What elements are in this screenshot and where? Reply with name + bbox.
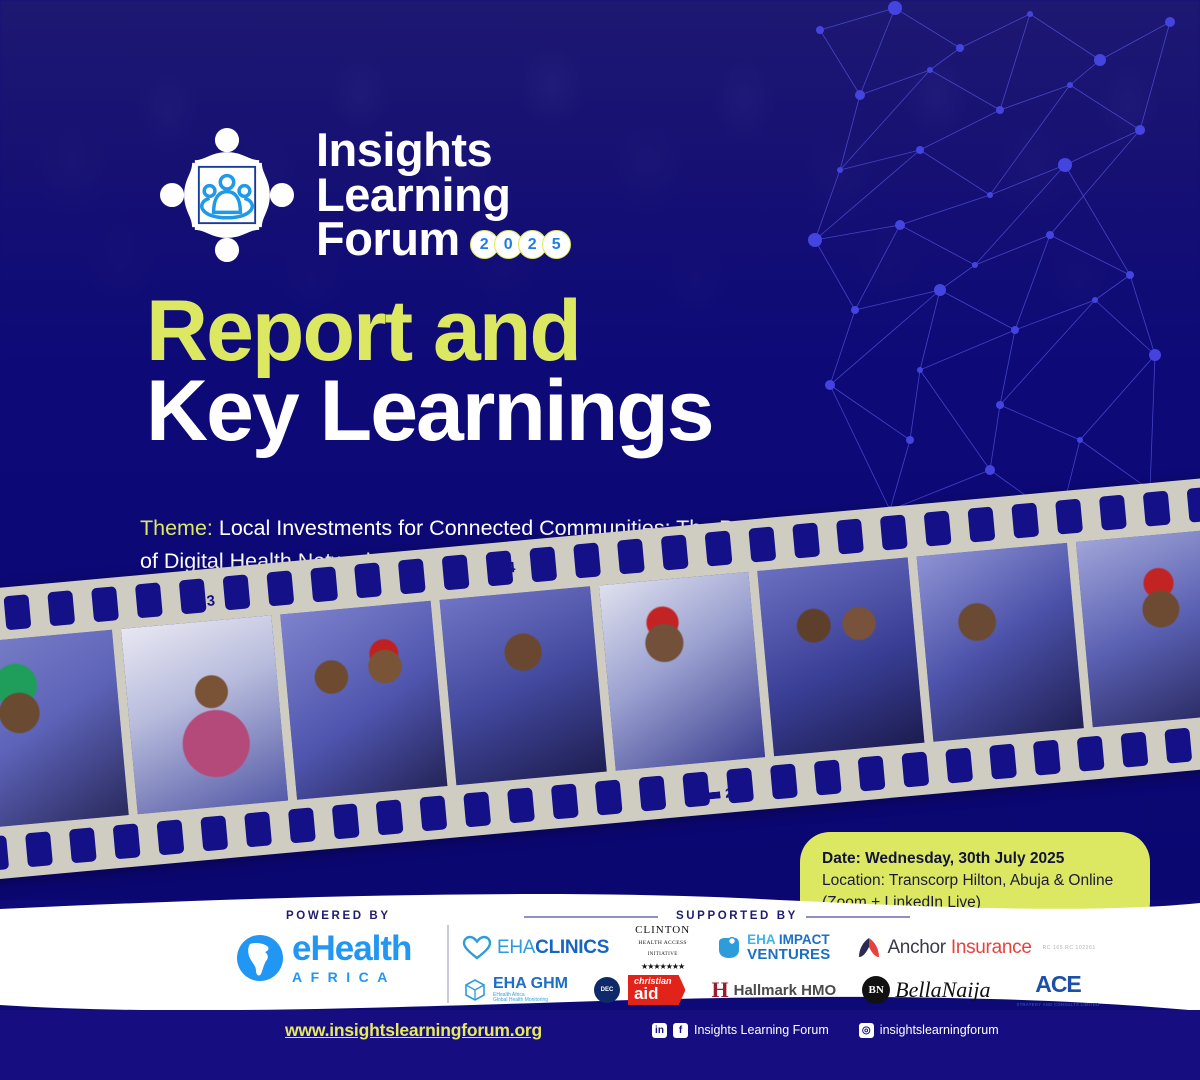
year-digit-4: 5 [542,230,571,259]
website-link[interactable]: www.insightslearningforum.org [285,1020,542,1041]
bellanaija-text: BellaNaija [895,977,990,1003]
filmstrip-photo-2 [121,615,288,814]
divider-left [524,916,658,918]
supported-by-row-2: EHA GHM EHealth Africa Global Health Mon… [462,973,1182,1007]
instagram-icon[interactable]: ◎ [859,1023,874,1038]
hallmark-text: Hallmark HMO [734,982,837,999]
logo-hallmark-hmo: H Hallmark HMO [711,977,836,1003]
filmstrip-photo-6 [758,557,925,756]
ghm-sub-2: Global Health Monitoring [493,998,568,1003]
page-title: Report and Key Learnings [146,292,713,452]
event-report-poster: Insights Learning Forum 2 0 2 5 Report a… [0,0,1200,1080]
title-line-1: Report and [146,292,713,372]
bellanaija-monogram: BN [862,976,890,1004]
social-links: in f Insights Learning Forum ◎ insightsl… [652,1023,999,1038]
logo-clinton-health-access-initiative: CLINTON HEALTH ACCESS INITIATIVE ★★★★★★★ [635,925,690,971]
christian-aid-seal: DEC [594,977,620,1003]
event-date: Date: Wednesday, 30th July 2025 [822,848,1128,870]
filmstrip-frame-number-4b: 4 [1071,504,1081,522]
filmstrip-photo-4 [439,586,606,785]
divider-right [806,916,910,918]
logo-christian-aid: DEC christian aid [594,975,686,1005]
powered-by-label: POWERED BY [286,910,391,922]
logo-ace-strategy: ACE STRATEGY AND CONSULTS LIMITED [1016,973,1099,1007]
ehealth-africa-name: eHealth [292,931,411,966]
brand-logo-lockup: Insights Learning Forum 2 0 2 5 [160,128,571,262]
clinton-line-2: HEALTH ACCESS [638,941,687,947]
brand-wordmark: Insights Learning Forum 2 0 2 5 [316,128,571,262]
social-group-linkedin-facebook[interactable]: in f Insights Learning Forum [652,1023,829,1038]
anchor-word-2: Insurance [951,937,1032,959]
filmstrip-photo-3 [280,601,447,800]
supported-by-logos: EHACLINICS CLINTON HEALTH ACCESS INITIAT… [462,931,1182,1007]
social-handle-instagram: insightslearningforum [880,1023,999,1037]
shield-person-icon [716,935,742,961]
ace-title: ACE [1035,973,1081,996]
logo-anchor-insurance: Anchor Insurance RC 165 RC 102261 [856,935,1095,961]
anchor-sub: RC 165 RC 102261 [1043,945,1096,951]
heart-icon [462,935,492,961]
anchor-mark-icon [856,935,882,961]
impact-light: EHA [747,932,779,947]
ehealth-africa-sub: AFRICA [292,970,411,984]
insights-learning-forum-logo-icon [160,128,294,262]
filmstrip-frame-number-3: 3 [206,592,216,610]
brand-line-2: Learning [316,173,571,218]
filmstrip-photo-1 [0,630,129,829]
brand-line-1: Insights [316,128,571,173]
ace-sub: STRATEGY AND CONSULTS LIMITED [1016,1003,1099,1007]
partners-content: POWERED BY SUPPORTED BY eHealth AFRICA [0,903,1200,1021]
event-location: Location: Transcorp Hilton, Abuja & Onli… [822,870,1128,892]
social-group-instagram[interactable]: ◎ insightslearningforum [859,1023,999,1038]
impact-ventures: VENTURES [747,947,830,962]
ghm-title: EHA GHM [493,976,568,993]
christian-aid-word-2: aid [634,986,672,1002]
supported-by-row-1: EHACLINICS CLINTON HEALTH ACCESS INITIAT… [462,931,1182,965]
brand-line-3: Forum [316,217,460,262]
hallmark-mark: H [711,977,728,1003]
eha-clinics-light: EHA [497,937,535,958]
logo-bellanaija: BN BellaNaija [862,976,990,1004]
filmstrip-photo-5 [598,572,765,771]
supported-by-label: SUPPORTED BY [676,910,798,922]
vertical-divider [447,925,449,1003]
linkedin-icon[interactable]: in [652,1023,667,1038]
logo-eha-impact-ventures: EHA IMPACT VENTURES [716,933,830,962]
filmstrip-frame-number-4: 4 [506,559,516,577]
clinton-line-3: INITIATIVE [648,952,678,957]
facebook-icon[interactable]: f [673,1023,688,1038]
impact-bold: IMPACT [779,932,830,947]
footer-bar: www.insightslearningforum.org in f Insig… [0,1010,1200,1080]
title-line-2: Key Learnings [146,372,713,452]
clinton-line-1: CLINTON [635,925,690,936]
logo-eha-ghm: EHA GHM EHealth Africa Global Health Mon… [462,976,568,1003]
anchor-word-1: Anchor [887,937,945,959]
theme-label: Theme: [140,516,213,540]
clinton-stars: ★★★★★★★ [641,963,684,971]
eha-clinics-bold: CLINICS [535,937,609,958]
year-badge: 2 0 2 5 [470,230,571,259]
filmstrip-photo-7 [917,543,1084,742]
logo-eha-clinics: EHACLINICS [462,935,609,961]
africa-globe-icon [236,934,284,982]
filmstrip-photo-8 [1076,528,1200,727]
powered-by-logo-ehealth-africa: eHealth AFRICA [236,931,411,984]
box-cube-icon [462,977,488,1003]
social-handle-primary: Insights Learning Forum [694,1023,829,1037]
